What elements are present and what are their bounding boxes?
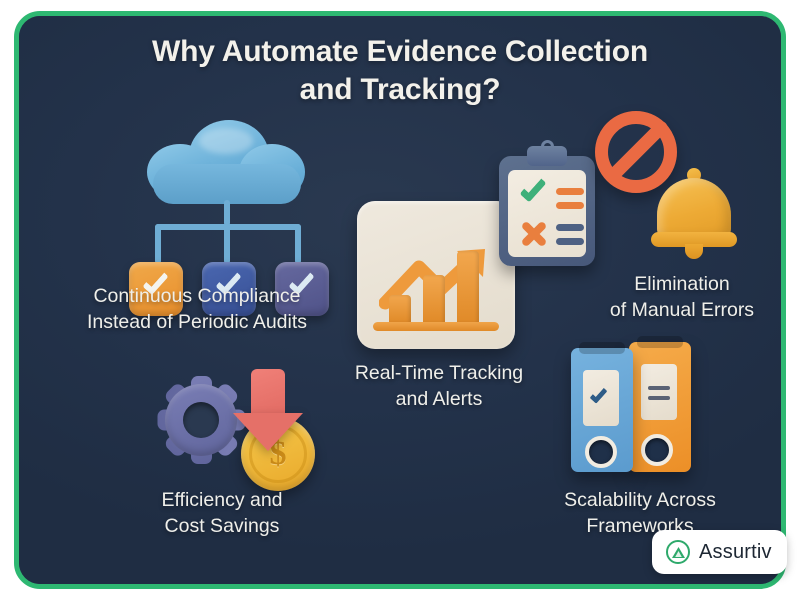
cost-savings-icon: $ xyxy=(225,369,327,479)
clipboard-line xyxy=(556,188,584,195)
chart-bar-2 xyxy=(423,275,445,323)
chart-bar-3 xyxy=(457,251,479,323)
title-line-1: Why Automate Evidence Collection xyxy=(152,35,648,68)
binder-ring-hole xyxy=(641,434,673,466)
clipboard-line xyxy=(556,224,584,231)
binder-label-line xyxy=(648,386,670,390)
binder-label-line xyxy=(648,396,670,400)
clipboard-sheet xyxy=(508,170,586,257)
bell-icon xyxy=(651,168,737,260)
benefit-label-real-time-tracking: Real-Time Tracking and Alerts xyxy=(319,361,559,413)
connector-left xyxy=(155,224,161,264)
binder-spine-top xyxy=(579,342,625,354)
check-mark-icon xyxy=(519,174,546,202)
binder-blue xyxy=(571,348,633,472)
cross-mark-icon xyxy=(519,218,549,248)
down-arrow-head xyxy=(233,413,303,451)
binder-label xyxy=(641,364,677,420)
gear-hole xyxy=(183,402,219,438)
logo-badge[interactable]: Assurtiv xyxy=(652,530,787,574)
binders-icon xyxy=(571,338,721,476)
cloud-highlight xyxy=(199,128,253,154)
logo-text: Assurtiv xyxy=(699,541,772,564)
growth-chart-icon xyxy=(357,201,515,349)
binder-orange xyxy=(629,342,691,472)
cloud-base xyxy=(153,164,301,204)
binder-spine-top xyxy=(637,336,683,348)
clipboard-icon xyxy=(499,156,595,266)
cloud-with-checkboxes-icon xyxy=(111,114,341,289)
cloud-shape xyxy=(147,120,305,204)
benefit-label-efficiency-cost-savings: Efficiency and Cost Savings xyxy=(107,488,337,540)
infographic-canvas: Why Automate Evidence Collection and Tra… xyxy=(0,0,800,600)
binder-label xyxy=(583,370,619,426)
connector-right xyxy=(295,224,301,264)
bell-clapper xyxy=(685,244,703,259)
triangle-mountain-circle-icon xyxy=(666,540,690,564)
clipboard-line xyxy=(556,238,584,245)
benefit-label-elimination-manual-errors: Elimination of Manual Errors xyxy=(567,272,786,324)
content-frame: Why Automate Evidence Collection and Tra… xyxy=(14,11,786,589)
bell-body xyxy=(657,178,731,240)
clipboard-line xyxy=(556,202,584,209)
binder-ring-hole xyxy=(585,436,617,468)
chart-baseline xyxy=(373,322,499,331)
clipboard-clamp xyxy=(527,146,567,166)
benefit-label-continuous-compliance: Continuous Compliance Instead of Periodi… xyxy=(37,284,357,336)
chart-bar-1 xyxy=(389,295,411,323)
down-arrow-shaft xyxy=(251,369,285,419)
check-mark-icon xyxy=(589,385,607,404)
page-title: Why Automate Evidence Collection and Tra… xyxy=(19,33,781,108)
connector-stem xyxy=(224,200,230,226)
connector-middle xyxy=(224,224,230,264)
title-line-2: and Tracking? xyxy=(19,71,781,109)
